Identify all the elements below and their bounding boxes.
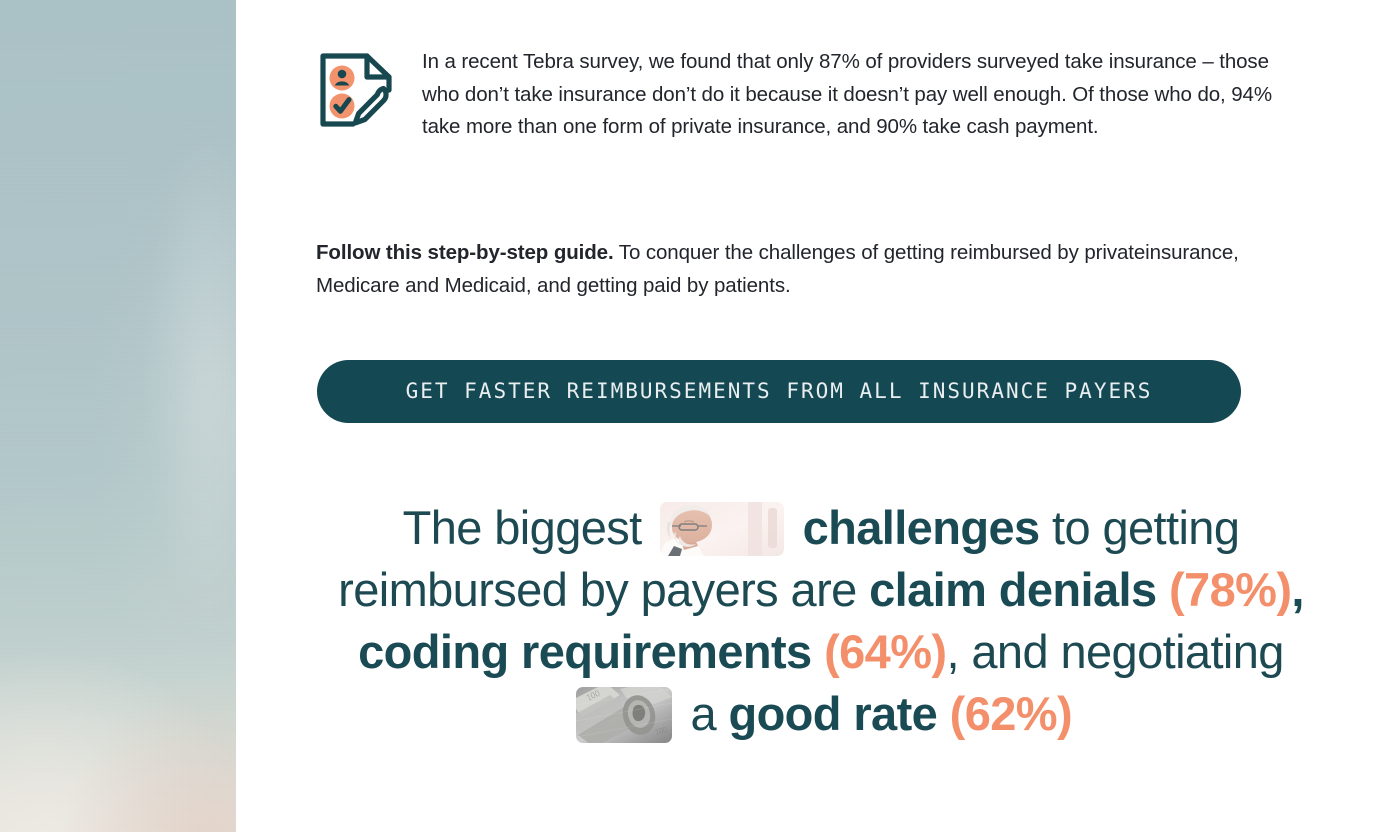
headline-percent-62: (62%) [950,687,1072,740]
headline-percent-64: (64%) [824,625,946,678]
get-faster-reimbursements-button[interactable]: GET FASTER REIMBURSEMENTS FROM ALL INSUR… [317,360,1241,423]
doctor-portrait-image [660,502,784,556]
step-by-step-guide-paragraph: Follow this step-by-step guide. To conqu… [316,236,1256,302]
panel-highlight-blob [146,120,236,640]
survey-callout: In a recent Tebra survey, we found that … [316,46,1331,144]
document-checklist-pencil-icon [316,50,396,136]
hundred-dollar-bills-image: 100 100 [576,687,672,743]
main-content: In a recent Tebra survey, we found that … [236,0,1375,832]
headline-strong-coding-requirements: coding requirements [358,625,811,678]
headline-part-1: The biggest [403,501,642,554]
headline-strong-claim-denials: claim denials [869,563,1156,616]
guide-lead-text: Follow this step-by-step guide. [316,241,614,264]
headline-strong-good-rate: good rate [728,687,937,740]
headline-comma-1: , [1291,563,1303,616]
headline-strong-challenges: challenges [803,501,1040,554]
headline-part-7: a [690,687,728,740]
page-root: In a recent Tebra survey, we found that … [0,0,1375,832]
headline: The biggest [316,497,1326,746]
decorative-gradient-panel [0,0,236,832]
headline-percent-78: (78%) [1169,563,1291,616]
headline-part-6: and negotiating [959,625,1284,678]
headline-comma-2: , [946,625,958,678]
survey-callout-text: In a recent Tebra survey, we found that … [422,46,1282,144]
